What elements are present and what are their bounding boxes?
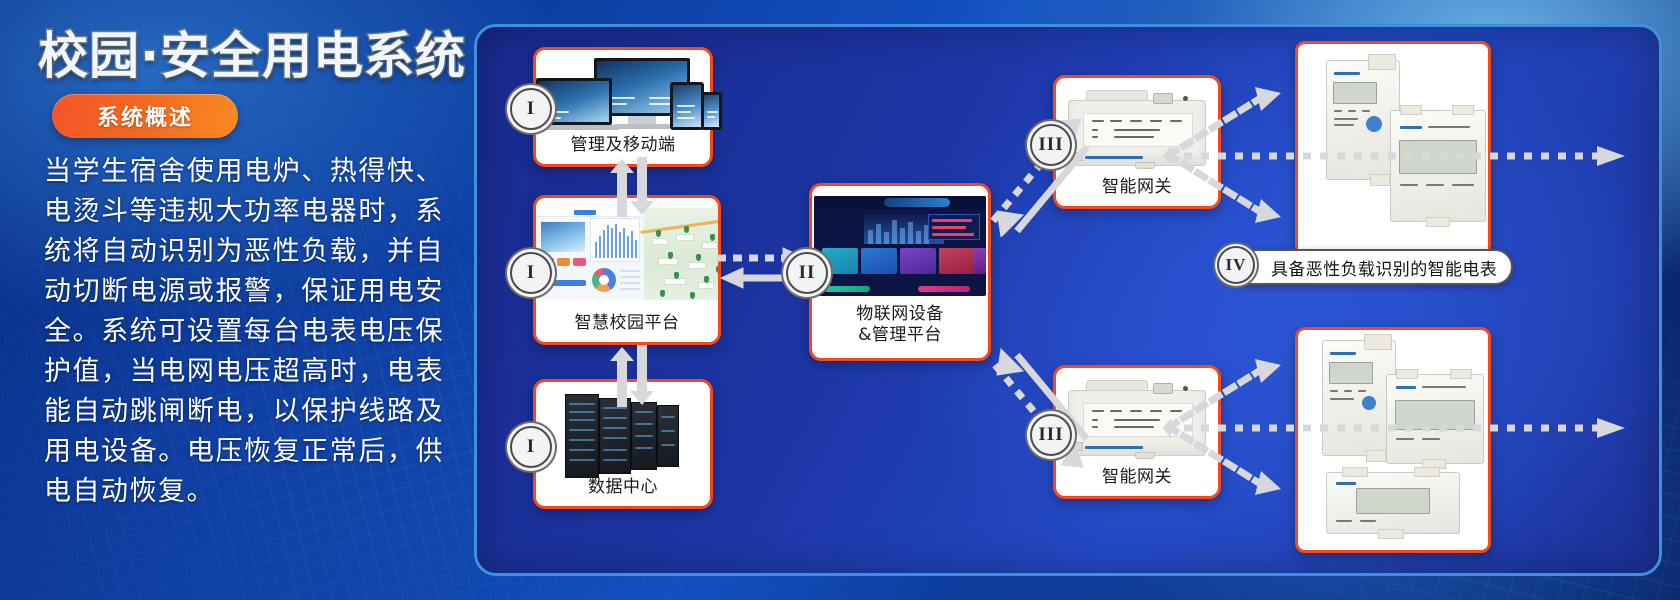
- system-diagram-panel: 管理及移动端 I: [474, 24, 1662, 576]
- node-label-management: 管理及移动端: [536, 135, 710, 156]
- badge-management: I: [510, 88, 552, 130]
- node-management[interactable]: 管理及移动端 I: [533, 47, 713, 167]
- connector-management-campus: [607, 157, 655, 217]
- three-phase-meter-wide-icon: [1326, 472, 1460, 534]
- iot-dashboard-icon: [812, 192, 988, 300]
- meter-group-label-text: 具备恶性负载识别的智能电表: [1271, 255, 1497, 280]
- badge-iot-platform: II: [786, 252, 828, 294]
- meter-group-label[interactable]: IV 具备恶性负载识别的智能电表: [1229, 249, 1513, 285]
- devices-icon: [536, 56, 710, 134]
- badge-data-center: I: [510, 426, 552, 468]
- badge-gateway-top: III: [1030, 124, 1072, 166]
- badge-meter-group: IV: [1217, 246, 1255, 284]
- node-iot-platform[interactable]: 物联网设备 &管理平台 II: [809, 183, 991, 361]
- connector-meters-horizontal-top: [1163, 145, 1633, 167]
- badge-campus-platform: I: [510, 252, 552, 294]
- overview-badge: 系统概述: [52, 94, 238, 138]
- meter-panel-bottom[interactable]: [1295, 327, 1491, 553]
- node-label-iot-line1: 物联网设备: [856, 304, 944, 324]
- node-campus-platform[interactable]: 智慧校园平台 I: [533, 195, 721, 345]
- intro-column: 校园·安全用电系统 系统概述 当学生宿舍使用电炉、热得快、电烫斗等违规大功率电器…: [0, 0, 470, 600]
- page-title: 校园·安全用电系统: [38, 16, 466, 88]
- connector-iot-gateway-bottom: [987, 347, 1097, 475]
- node-label-data-center: 数据中心: [536, 477, 710, 498]
- overview-paragraph: 当学生宿舍使用电炉、热得快、电烫斗等违规大功率电器时，系统将自动识别为恶性负载，…: [44, 152, 444, 512]
- node-label-iot-line2: &管理平台: [858, 325, 942, 345]
- badge-gateway-bottom: III: [1030, 414, 1072, 456]
- dashboard-icon: [536, 204, 718, 304]
- connector-meters-horizontal-bottom: [1163, 417, 1633, 439]
- node-label-campus-platform: 智慧校园平台: [536, 313, 718, 334]
- connector-campus-datacenter: [607, 345, 655, 407]
- node-label-iot-platform: 物联网设备 &管理平台: [812, 304, 988, 346]
